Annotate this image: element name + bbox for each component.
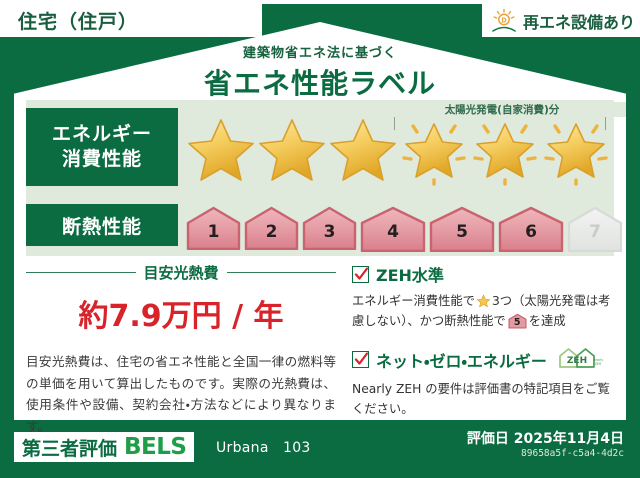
energy-star-rating [186,106,610,190]
insulation-house-7: 7 [567,206,623,250]
net-zero-energy-body: Nearly ZEH の要件は評価書の特記項目をご覧ください。 [352,379,614,420]
performance-block: エネルギー 消費性能 太陽光発電(自家消費)分 [26,100,614,256]
dwelling-type-label: 住宅（住戸） [18,7,138,34]
criterion-net-zero-energy: ネット・ゼロ・エネルギー ZEH Nearly ZEH Nearly ZEH の… [352,346,614,420]
svg-text:D: D [501,16,507,24]
criterion-zeh-level: ZEH水準 エネルギー消費性能で3つ（太陽光発電は考慮しない）、かつ断熱性能で5… [352,262,614,332]
bels-en-label: BELS [124,434,186,460]
zeh-level-body-part2: を達成 [529,314,566,328]
insulation-house-5: 5 [429,206,495,250]
energy-star-2 [257,110,327,186]
cost-rule-right [227,272,337,274]
cost-value: 約7.9万円 / 年 [26,291,336,335]
insulation-label: 断熱性能 [62,212,142,239]
evaluation-date-label: 評価日 [467,431,509,447]
insulation-house-1-number: 1 [186,206,241,250]
dwelling-type-badge: 住宅（住戸） [0,4,262,37]
criterion-zeh-level-head: ZEH水準 [352,262,614,286]
inline-insulation-badge-icon: 5 [508,313,527,329]
insulation-house-2: 2 [244,206,299,250]
zeh-level-body-part1: エネルギー消費性能で [352,294,475,308]
insulation-house-4-number: 4 [360,206,426,250]
insulation-house-6: 6 [498,206,564,250]
insulation-house-5-number: 5 [429,206,495,250]
evaluation-id: 89658a5f-c5a4-4d2c [521,448,624,459]
insulation-level-scale: 1 2 3 4 [186,200,610,250]
criterion-net-zero-energy-head: ネット・ゼロ・エネルギー ZEH Nearly ZEH [352,346,614,374]
insulation-house-2-number: 2 [244,206,299,250]
insulation-performance-row-label: 断熱性能 [26,204,178,246]
cost-rule-left [26,272,136,274]
sun-solar-icon: D [490,8,520,34]
zeh-logo-icon: ZEH Nearly ZEH [557,346,603,374]
cost-title: 目安光熱費 [144,262,219,283]
inline-star-icon [476,293,491,308]
energy-label-line2: 消費性能 [62,147,142,172]
net-zero-energy-checkbox[interactable] [352,351,369,368]
insulation-house-3-number: 3 [302,206,357,250]
energy-star-1 [186,110,256,186]
inline-insulation-badge-number: 5 [508,313,527,329]
label-footer: 第三者評価 BELS Urbana 103 評価日 2025年11月4日 896… [0,420,640,478]
zeh-level-checkbox[interactable] [352,266,369,283]
energy-star-solar-6 [541,110,611,186]
estimated-utility-cost-section: 目安光熱費 約7.9万円 / 年 目安光熱費は、住宅の省エネ性能と全国一律の燃料… [26,262,336,438]
building-name: Urbana [216,440,269,456]
cost-title-row: 目安光熱費 [26,262,336,283]
building-identification: Urbana 103 [216,440,311,456]
insulation-house-4: 4 [360,206,426,250]
energy-performance-row-label: エネルギー 消費性能 [26,108,178,186]
energy-star-solar-4 [399,110,469,186]
insulation-house-1: 1 [186,206,241,250]
bels-jp-label: 第三者評価 [22,434,117,461]
zeh-logo-text: ZEH [567,356,587,366]
energy-performance-label: 建築物省エネ法に基づく 省エネ性能ラベル 住宅（住戸） D 再エネ設備あり [0,0,640,478]
net-zero-energy-title: ネット・ゼロ・エネルギー [376,348,547,372]
svg-text:ZEH: ZEH [595,362,602,366]
renewable-equipment-badge: D 再エネ設備あり [482,4,640,37]
insulation-house-7-number: 7 [567,206,623,250]
energy-label-line1: エネルギー [52,122,152,147]
zeh-level-body: エネルギー消費性能で3つ（太陽光発電は考慮しない）、かつ断熱性能で5を達成 [352,291,614,332]
zeh-level-title: ZEH水準 [376,262,444,286]
bels-badge: 第三者評価 BELS [14,432,194,462]
unit-number: 103 [283,440,311,456]
criteria-section: ZEH水準 エネルギー消費性能で3つ（太陽光発電は考慮しない）、かつ断熱性能で5… [352,262,614,434]
insulation-house-3: 3 [302,206,357,250]
insulation-house-6-number: 6 [498,206,564,250]
evaluation-date: 評価日 2025年11月4日 [467,428,624,448]
renewable-equipment-label: 再エネ設備あり [523,9,635,33]
energy-star-3 [328,110,398,186]
evaluation-date-value: 2025年11月4日 [514,431,624,447]
energy-star-solar-5 [470,110,540,186]
